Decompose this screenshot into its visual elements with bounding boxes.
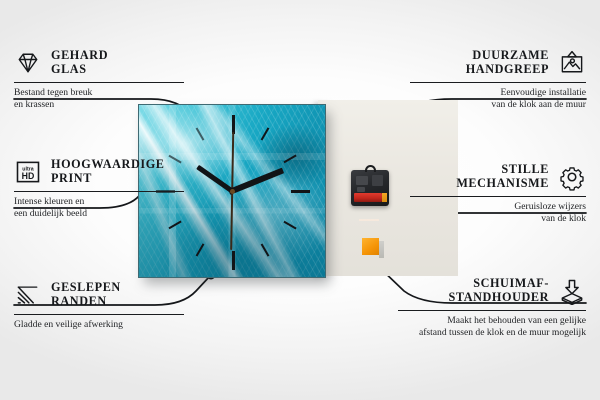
foam-spacer-pad: [362, 238, 379, 255]
gear-icon: [558, 163, 586, 191]
feature-title: GEHARD GLAS: [51, 49, 108, 76]
beveled-edges-icon: [14, 281, 42, 309]
minute-hand: [228, 168, 284, 195]
feature-header: SCHUIMAF- STANDHOUDER: [398, 277, 586, 305]
feature-divider: [14, 82, 184, 83]
feature-header: GESLEPEN RANDEN: [14, 281, 190, 309]
mechanism-detail: [356, 176, 368, 185]
svg-text:HD: HD: [22, 171, 35, 181]
battery-label-stripe: [359, 219, 379, 221]
battery: [354, 193, 382, 202]
feature-title: STILLE MECHANISME: [456, 163, 549, 190]
infographic-canvas: GEHARD GLAS Bestand tegen breuk en krass…: [0, 0, 600, 400]
arrow-press-pad-icon: [558, 277, 586, 305]
mechanism-detail: [357, 187, 365, 192]
diamond-icon: [14, 49, 42, 77]
hand-center-cap: [230, 189, 235, 194]
feature-header: GEHARD GLAS: [14, 49, 190, 77]
feature-hoogwaardige-print: ultra HD HOOGWAARDIGE PRINT Intense kleu…: [14, 158, 190, 219]
feature-duurzame-handgreep: DUURZAME HANDGREEP Eenvoudige installati…: [410, 49, 586, 110]
feature-stille-mechanisme: STILLE MECHANISME Geruisloze wijzers van…: [410, 163, 586, 224]
feature-title: SCHUIMAF- STANDHOUDER: [449, 277, 550, 304]
feature-description: Intense kleuren en een duidelijk beeld: [14, 196, 190, 219]
feature-schuimaf-standhouder: SCHUIMAF- STANDHOUDER Maakt het behouden…: [398, 277, 586, 338]
feature-divider: [410, 82, 586, 83]
feature-description: Bestand tegen breuk en krassen: [14, 87, 190, 110]
feature-description: Maakt het behouden van een gelijke afsta…: [398, 315, 586, 338]
mechanism-detail: [372, 175, 383, 186]
feature-description: Gladde en veilige afwerking: [14, 319, 190, 330]
foam-spacer-pad-side: [379, 241, 384, 258]
feature-gehard-glas: GEHARD GLAS Bestand tegen breuk en krass…: [14, 49, 190, 110]
hanging-picture-frame-icon: [558, 49, 586, 77]
feature-divider: [410, 196, 586, 197]
feature-header: STILLE MECHANISME: [410, 163, 586, 191]
battery-terminal: [382, 193, 387, 202]
feature-description: Geruisloze wijzers van de klok: [410, 201, 586, 224]
clock-mechanism: [351, 170, 389, 206]
feature-divider: [14, 191, 184, 192]
feature-divider: [398, 310, 586, 311]
feature-header: ultra HD HOOGWAARDIGE PRINT: [14, 158, 190, 186]
feature-description: Eenvoudige installatie van de klok aan d…: [410, 87, 586, 110]
hanging-hook: [365, 165, 376, 172]
ultra-hd-icon: ultra HD: [14, 158, 42, 186]
feature-divider: [14, 314, 184, 315]
feature-title: HOOGWAARDIGE PRINT: [51, 158, 165, 185]
feature-header: DUURZAME HANDGREEP: [410, 49, 586, 77]
feature-geslepen-randen: GESLEPEN RANDEN Gladde en veilige afwerk…: [14, 281, 190, 331]
feature-title: GESLEPEN RANDEN: [51, 281, 121, 308]
feature-title: DUURZAME HANDGREEP: [466, 49, 549, 76]
